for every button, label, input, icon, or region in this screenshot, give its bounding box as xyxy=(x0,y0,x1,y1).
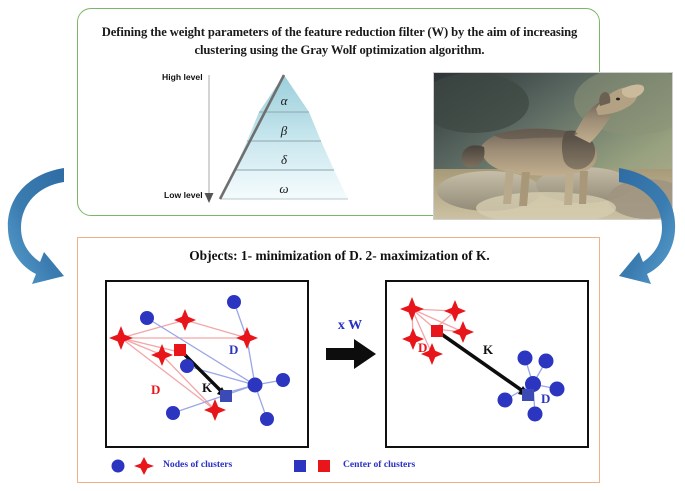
pyramid-low-level-label: Low level xyxy=(164,190,203,200)
right-arrow-icon xyxy=(324,337,378,371)
legend-label-centers: Center of clusters xyxy=(343,459,415,470)
red-cluster-center xyxy=(431,325,443,337)
before-plot-svg: D D K xyxy=(107,282,306,445)
pyramid-tier-delta: δ xyxy=(281,152,288,167)
top-panel: Defining the weight parameters of the fe… xyxy=(77,8,600,216)
label-D-red: D xyxy=(418,340,427,355)
pyramid-tier-alpha: α xyxy=(281,93,289,108)
label-D-blue: D xyxy=(229,342,238,357)
pyramid-high-level-label: High level xyxy=(162,72,203,82)
figure-canvas: Defining the weight parameters of the fe… xyxy=(0,0,685,491)
pyramid-tier-beta: β xyxy=(280,123,288,138)
left-curved-arrow xyxy=(2,152,80,292)
label-K: K xyxy=(202,380,213,395)
red-square-icon xyxy=(318,460,330,472)
blue-square-icon xyxy=(294,460,306,472)
blue-cluster-center xyxy=(220,390,232,402)
red-cluster-center xyxy=(174,344,186,356)
blue-circle-icon xyxy=(112,460,125,473)
top-panel-title: Defining the weight parameters of the fe… xyxy=(90,23,589,59)
pyramid-tier-omega: ω xyxy=(279,181,288,196)
blue-cluster-center xyxy=(522,389,534,401)
red-star-icon xyxy=(134,457,154,475)
after-clustering-plot: D D K xyxy=(385,280,589,448)
right-curved-arrow xyxy=(603,152,681,292)
label-K: K xyxy=(483,342,494,357)
before-clustering-plot: D D K xyxy=(105,280,309,448)
bottom-panel: Objects: 1- minimization of D. 2- maximi… xyxy=(77,237,600,483)
transform-label: x W xyxy=(325,318,375,334)
label-D-red: D xyxy=(151,382,160,397)
label-D-blue: D xyxy=(541,391,550,406)
gwo-hierarchy-pyramid: High level Low level xyxy=(162,67,352,213)
after-plot-svg: D D K xyxy=(387,282,586,445)
legend: Nodes of clusters Center of clusters xyxy=(100,455,580,477)
bottom-panel-title: Objects: 1- minimization of D. 2- maximi… xyxy=(88,248,591,264)
legend-label-nodes: Nodes of clusters xyxy=(163,459,232,470)
